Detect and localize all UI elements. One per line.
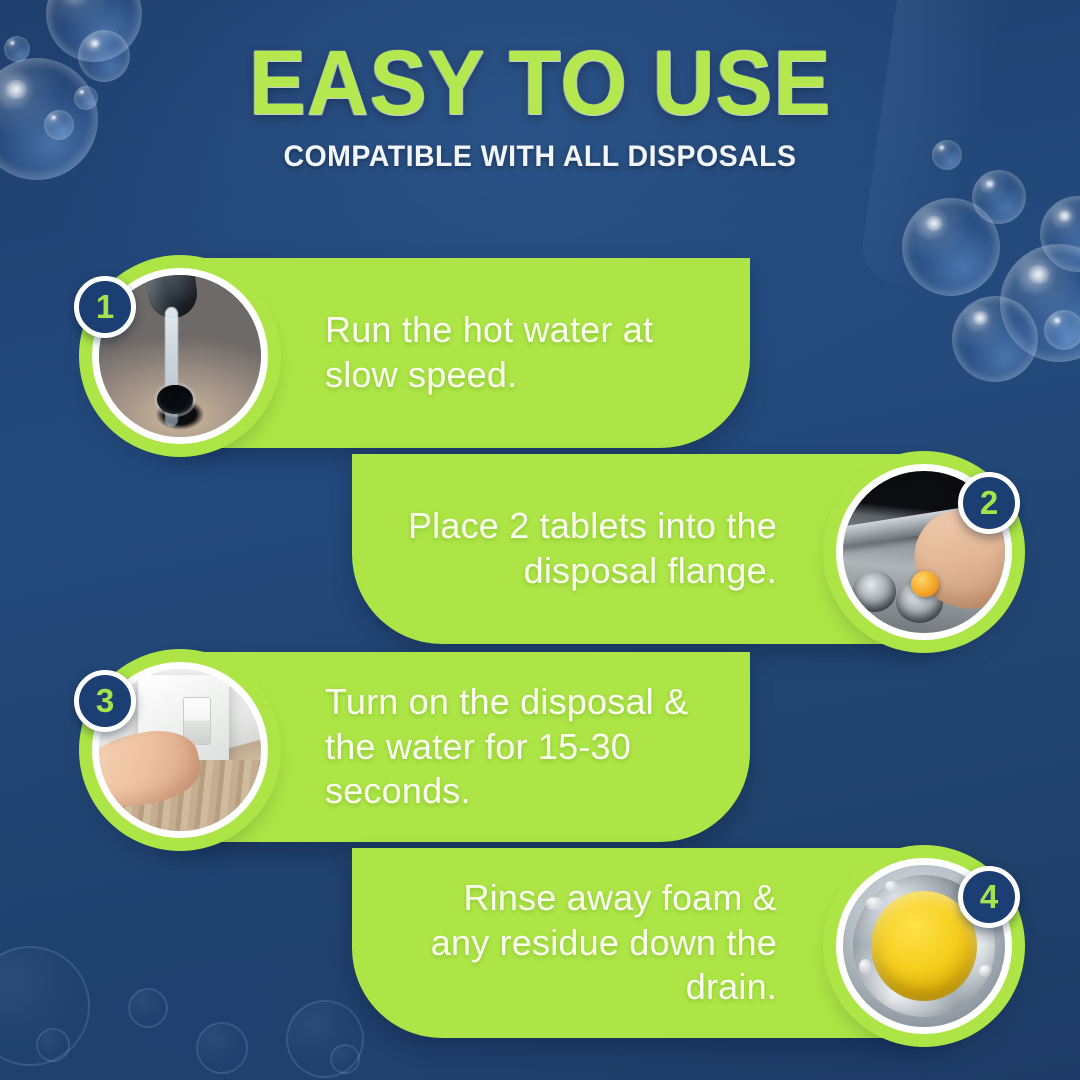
bubble-icon — [952, 296, 1038, 382]
step-2-badge: 2 — [958, 472, 1020, 534]
step-1-badge: 1 — [74, 276, 136, 338]
page-title: EASY TO USE — [38, 38, 1042, 128]
step-4-badge: 4 — [958, 866, 1020, 928]
bubble-outline-icon — [286, 1000, 364, 1078]
page-subtitle: COMPATIBLE WITH ALL DISPOSALS — [27, 140, 1053, 174]
bubble-icon — [1044, 310, 1080, 350]
bubble-outline-icon — [0, 946, 90, 1066]
step-3-badge: 3 — [74, 670, 136, 732]
bubble-icon — [1000, 244, 1080, 362]
bubble-outline-icon — [196, 1022, 248, 1074]
bubble-outline-icon — [128, 988, 168, 1028]
header: EASY TO USE COMPATIBLE WITH ALL DISPOSAL… — [0, 38, 1080, 174]
bubble-outline-icon — [36, 1028, 70, 1062]
bubble-outline-icon — [330, 1044, 360, 1074]
bubble-icon — [902, 198, 1000, 296]
bubble-icon — [972, 170, 1026, 224]
bubble-icon — [1040, 196, 1080, 272]
infographic-poster: EASY TO USE COMPATIBLE WITH ALL DISPOSAL… — [0, 0, 1080, 1080]
